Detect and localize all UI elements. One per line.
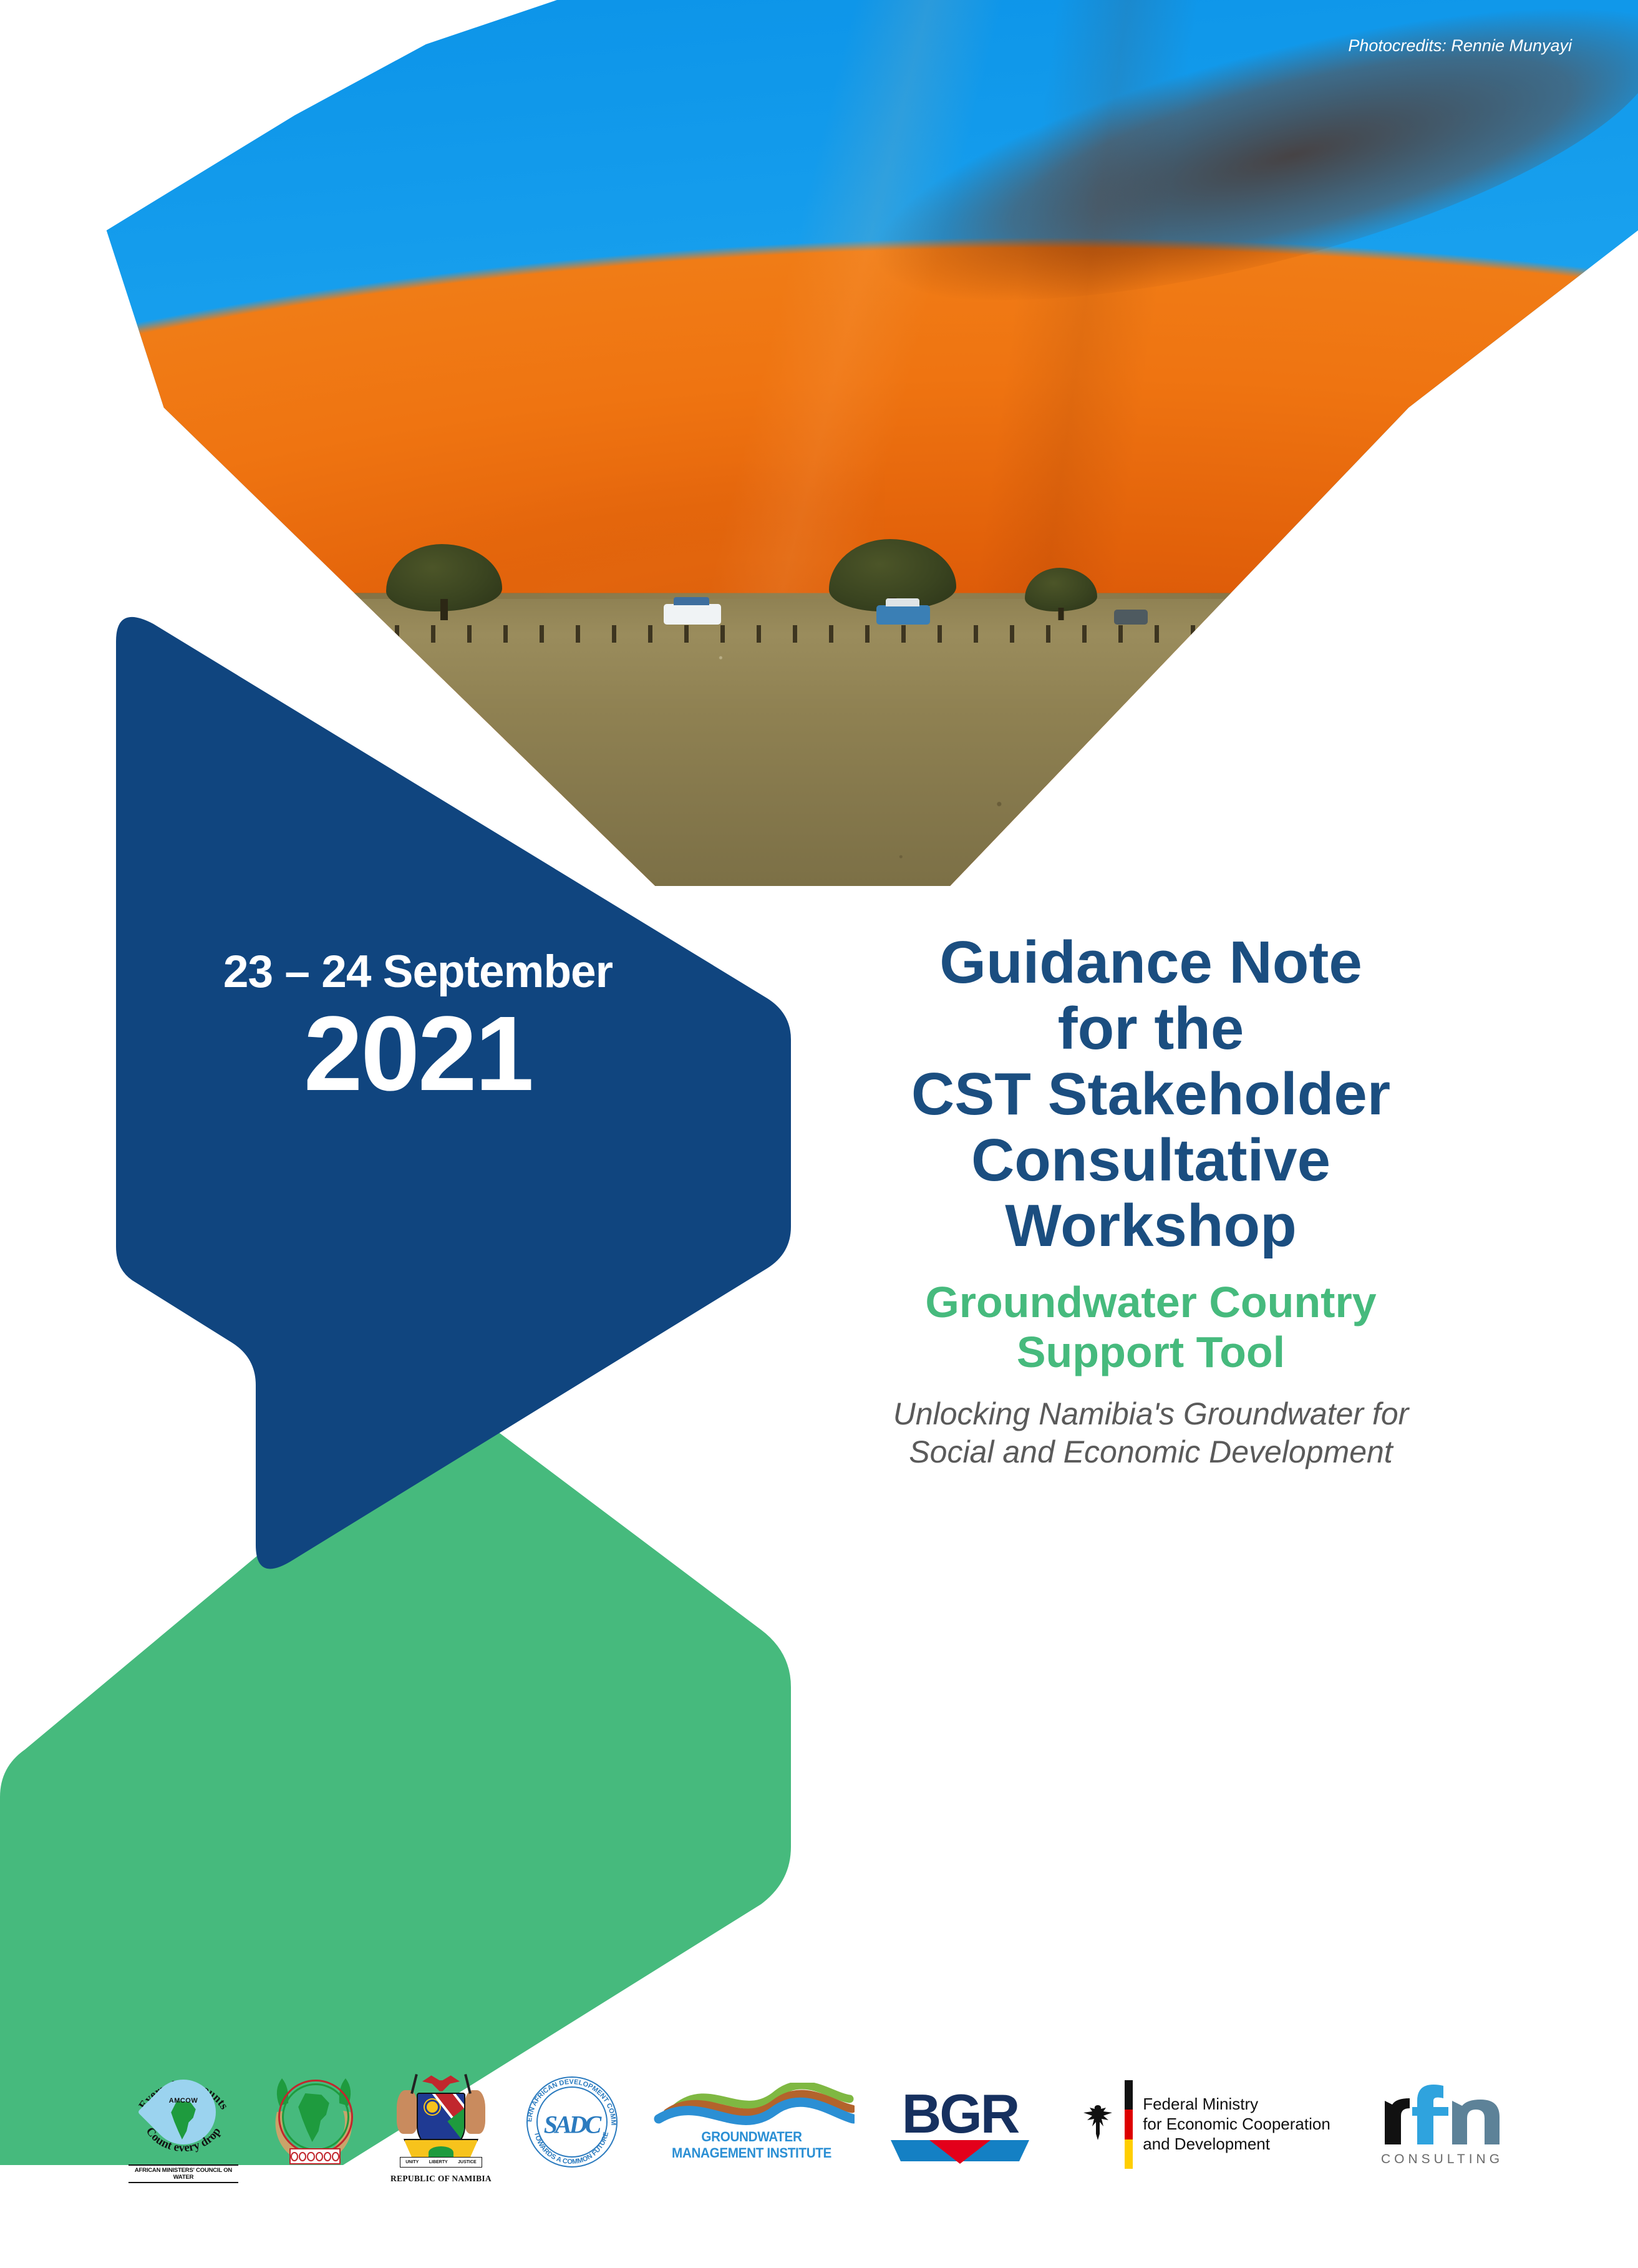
tagline-line-2: Social and Economic Development (783, 1433, 1519, 1471)
ministry-line-2: for Economic Cooperation (1143, 2115, 1330, 2134)
event-year: 2021 (159, 1000, 677, 1108)
oryx-left-icon (397, 2090, 418, 2134)
title-line-2: for the (783, 996, 1519, 1062)
page-title: Guidance Note for the CST Stakeholder Co… (783, 930, 1519, 1259)
sadc-gmi-caption: GROUNDWATER MANAGEMENT INSTITUTE (657, 2129, 846, 2161)
fish-eagle-icon (422, 2074, 460, 2093)
title-line-3: CST Stakeholder (783, 1061, 1519, 1127)
title-line-4: Consultative (783, 1127, 1519, 1194)
sadc-gmi-logo: GROUNDWATER MANAGEMENT INSTITUTE (649, 2071, 855, 2178)
title-line-5: Workshop (783, 1193, 1519, 1259)
rfm-wordmark (1374, 2080, 1511, 2148)
acacia-tree (1024, 552, 1098, 620)
african-union-logo (267, 2068, 361, 2181)
amcow-caption: AFRICAN MINISTERS' COUNCIL ON WATER (128, 2164, 238, 2183)
photo-credit: Photocredits: Rennie Munyayi (1348, 36, 1572, 56)
subtitle-line-1: Groundwater Country (783, 1278, 1519, 1328)
page-tagline: Unlocking Namibia's Groundwater for Soci… (783, 1395, 1519, 1471)
sadc-monogram: SADC (544, 2110, 599, 2139)
bgr-logo: BGR (882, 2071, 1038, 2178)
republic-of-namibia-caption: REPUBLIC OF NAMIBIA (388, 2174, 494, 2184)
page-subtitle: Groundwater Country Support Tool (783, 1278, 1519, 1378)
ministry-line-1: Federal Ministry (1143, 2095, 1330, 2115)
au-interlocking-rings-icon (289, 2148, 341, 2164)
vehicle (876, 605, 930, 625)
bundesadler-icon (1081, 2101, 1115, 2148)
event-date-range: 23 – 24 September (159, 948, 677, 996)
event-date-block: 23 – 24 September 2021 (159, 948, 677, 1108)
namibia-motto-scroll: UNITY LIBERTY JUSTICE (400, 2157, 482, 2168)
tagline-line-1: Unlocking Namibia's Groundwater for (783, 1395, 1519, 1433)
ministry-line-3: and Development (1143, 2134, 1330, 2154)
oryx-right-icon (464, 2090, 485, 2134)
amcow-wordmark: AMCOW (169, 2097, 198, 2105)
vehicle (1114, 610, 1148, 625)
motto-unity: UNITY (405, 2160, 419, 2164)
title-block: Guidance Note for the CST Stakeholder Co… (783, 930, 1519, 1471)
german-flag-bar-icon (1125, 2080, 1133, 2169)
german-federal-ministry-logo: Federal Ministry for Economic Cooperatio… (1065, 2071, 1346, 2178)
bgr-book-icon (891, 2139, 1029, 2164)
title-line-1: Guidance Note (783, 930, 1519, 996)
subtitle-line-2: Support Tool (783, 1328, 1519, 1378)
bgr-wordmark: BGR (882, 2086, 1038, 2141)
navy-chevron-shape (0, 599, 811, 1672)
amcow-logo: Every drop counts Count every drop AMCOW… (127, 2062, 240, 2187)
ministry-name: Federal Ministry for Economic Cooperatio… (1143, 2095, 1330, 2154)
rfm-consulting-logo: CONSULTING (1374, 2068, 1511, 2181)
sun-icon (427, 2101, 438, 2113)
ridge-line (0, 593, 1638, 599)
republic-of-namibia-logo: UNITY LIBERTY JUSTICE REPUBLIC OF NAMIBI… (388, 2065, 494, 2184)
partner-logo-bar: Every drop counts Count every drop AMCOW… (0, 2053, 1638, 2196)
motto-liberty: LIBERTY (429, 2160, 448, 2164)
motto-justice: JUSTICE (458, 2160, 477, 2164)
sadc-logo: SOUTHERN AFRICAN DEVELOPMENT COMMUNITY T… (521, 2071, 621, 2178)
rfm-caption: CONSULTING (1374, 2152, 1511, 2167)
